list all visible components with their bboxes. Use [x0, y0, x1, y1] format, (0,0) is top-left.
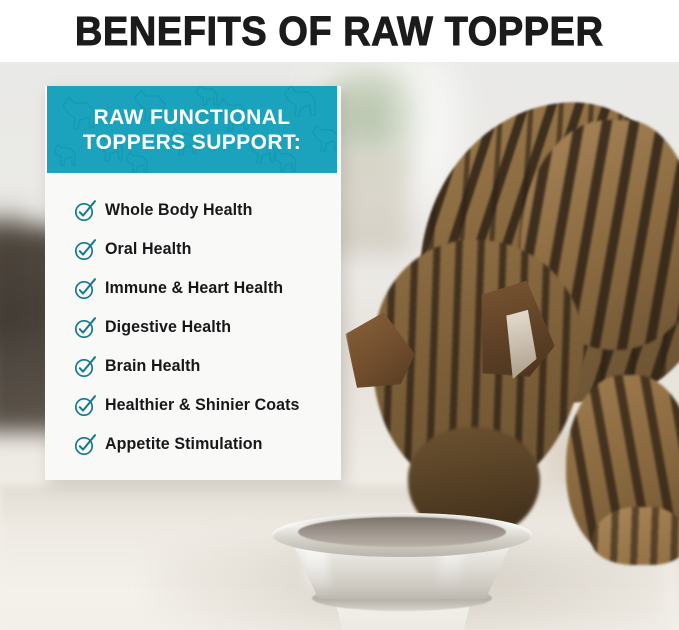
list-item: Healthier & Shinier Coats	[45, 386, 341, 425]
list-item: Whole Body Health	[45, 191, 341, 230]
page-title: BENEFITS OF RAW TOPPER	[75, 11, 604, 52]
cat-paw	[592, 507, 679, 565]
list-item-label: Brain Health	[105, 357, 200, 376]
promo-graphic: BENEFITS OF RAW TOPPER	[0, 0, 679, 630]
list-item: Brain Health	[45, 347, 341, 386]
list-item-label: Appetite Stimulation	[105, 435, 263, 454]
pet-bowl-icon	[272, 485, 532, 610]
bowl-interior	[298, 517, 506, 547]
list-item-label: Whole Body Health	[105, 201, 252, 220]
check-circle-icon	[73, 316, 97, 340]
check-circle-icon	[73, 238, 97, 262]
cat-icon	[330, 75, 679, 555]
list-item: Oral Health	[45, 230, 341, 269]
list-item-label: Immune & Heart Health	[105, 279, 283, 298]
list-item-label: Healthier & Shinier Coats	[105, 396, 300, 415]
check-circle-icon	[73, 277, 97, 301]
check-circle-icon	[73, 199, 97, 223]
card-header-line-2: TOPPERS SUPPORT:	[83, 130, 301, 155]
check-circle-icon	[73, 355, 97, 379]
title-bar: BENEFITS OF RAW TOPPER	[0, 0, 679, 62]
list-item: Appetite Stimulation	[45, 425, 341, 464]
list-item: Immune & Heart Health	[45, 269, 341, 308]
check-circle-icon	[73, 433, 97, 457]
list-item: Digestive Health	[45, 308, 341, 347]
list-item-label: Digestive Health	[105, 318, 231, 337]
list-item-label: Oral Health	[105, 240, 191, 259]
benefits-list: Whole Body Health Oral Health Immune & H…	[45, 173, 341, 464]
benefits-card: RAW FUNCTIONAL TOPPERS SUPPORT: Whole Bo…	[45, 86, 341, 480]
card-header: RAW FUNCTIONAL TOPPERS SUPPORT:	[47, 86, 337, 173]
check-circle-icon	[73, 394, 97, 418]
card-header-line-1: RAW FUNCTIONAL	[94, 105, 291, 130]
